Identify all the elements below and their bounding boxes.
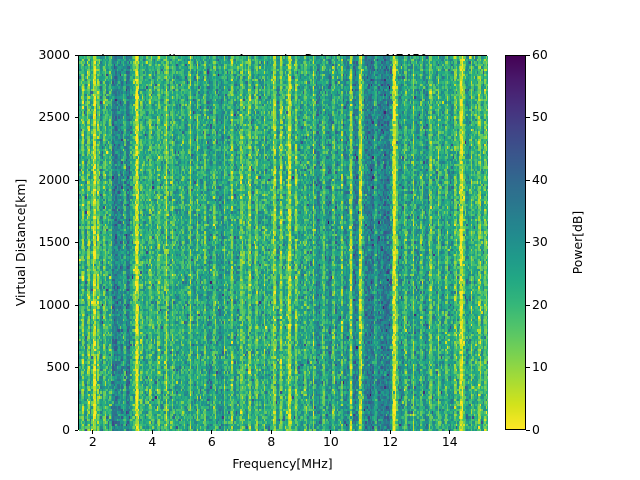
x-tick-mark (449, 430, 450, 434)
colorbar-tick-label: 20 (532, 299, 572, 311)
colorbar-tick-label: 10 (532, 361, 572, 373)
x-tick-mark (330, 430, 331, 434)
x-axis-label: Frequency[MHz] (78, 456, 487, 471)
ionogram-heatmap (79, 56, 488, 431)
x-tick-label: 14 (420, 436, 480, 448)
y-tick-label: 0 (0, 424, 70, 436)
y-tick-mark (75, 180, 79, 181)
y-tick-mark (75, 55, 79, 56)
colorbar-tick-mark (526, 367, 530, 368)
y-tick-label: 1500 (0, 236, 70, 248)
y-tick-label: 3000 (0, 49, 70, 61)
y-axis-label: Virtual Distance[km] (13, 55, 29, 430)
colorbar-tick-label: 0 (532, 424, 572, 436)
x-tick-mark (211, 430, 212, 434)
colorbar-tick-mark (526, 430, 530, 431)
colorbar-tick-label: 50 (532, 111, 572, 123)
x-tick-label: 10 (301, 436, 361, 448)
x-tick-mark (92, 430, 93, 434)
y-tick-label: 2500 (0, 111, 70, 123)
colorbar-tick-label: 40 (532, 174, 572, 186)
ionogram-figure: Ionogram Jicamarca-Ayacucho Polarization… (0, 0, 640, 480)
colorbar-label: Power[dB] (570, 55, 586, 430)
colorbar-tick-mark (526, 242, 530, 243)
plot-axes (78, 55, 487, 430)
colorbar-tick-mark (526, 55, 530, 56)
x-tick-mark (152, 430, 153, 434)
colorbar-tick-mark (526, 117, 530, 118)
x-tick-label: 6 (182, 436, 242, 448)
y-tick-label: 1000 (0, 299, 70, 311)
x-tick-label: 8 (241, 436, 301, 448)
colorbar-tick-label: 30 (532, 236, 572, 248)
y-tick-label: 2000 (0, 174, 70, 186)
x-tick-label: 4 (122, 436, 182, 448)
colorbar (505, 55, 526, 430)
colorbar-tick-mark (526, 180, 530, 181)
colorbar-gradient (506, 56, 525, 429)
x-tick-mark (271, 430, 272, 434)
x-tick-label: 12 (360, 436, 420, 448)
y-tick-label: 500 (0, 361, 70, 373)
colorbar-tick-label: 60 (532, 49, 572, 61)
y-tick-mark (75, 305, 79, 306)
y-tick-mark (75, 117, 79, 118)
colorbar-tick-mark (526, 305, 530, 306)
y-tick-mark (75, 242, 79, 243)
y-tick-mark (75, 430, 79, 431)
y-tick-mark (75, 367, 79, 368)
x-tick-mark (390, 430, 391, 434)
x-tick-label: 2 (63, 436, 123, 448)
